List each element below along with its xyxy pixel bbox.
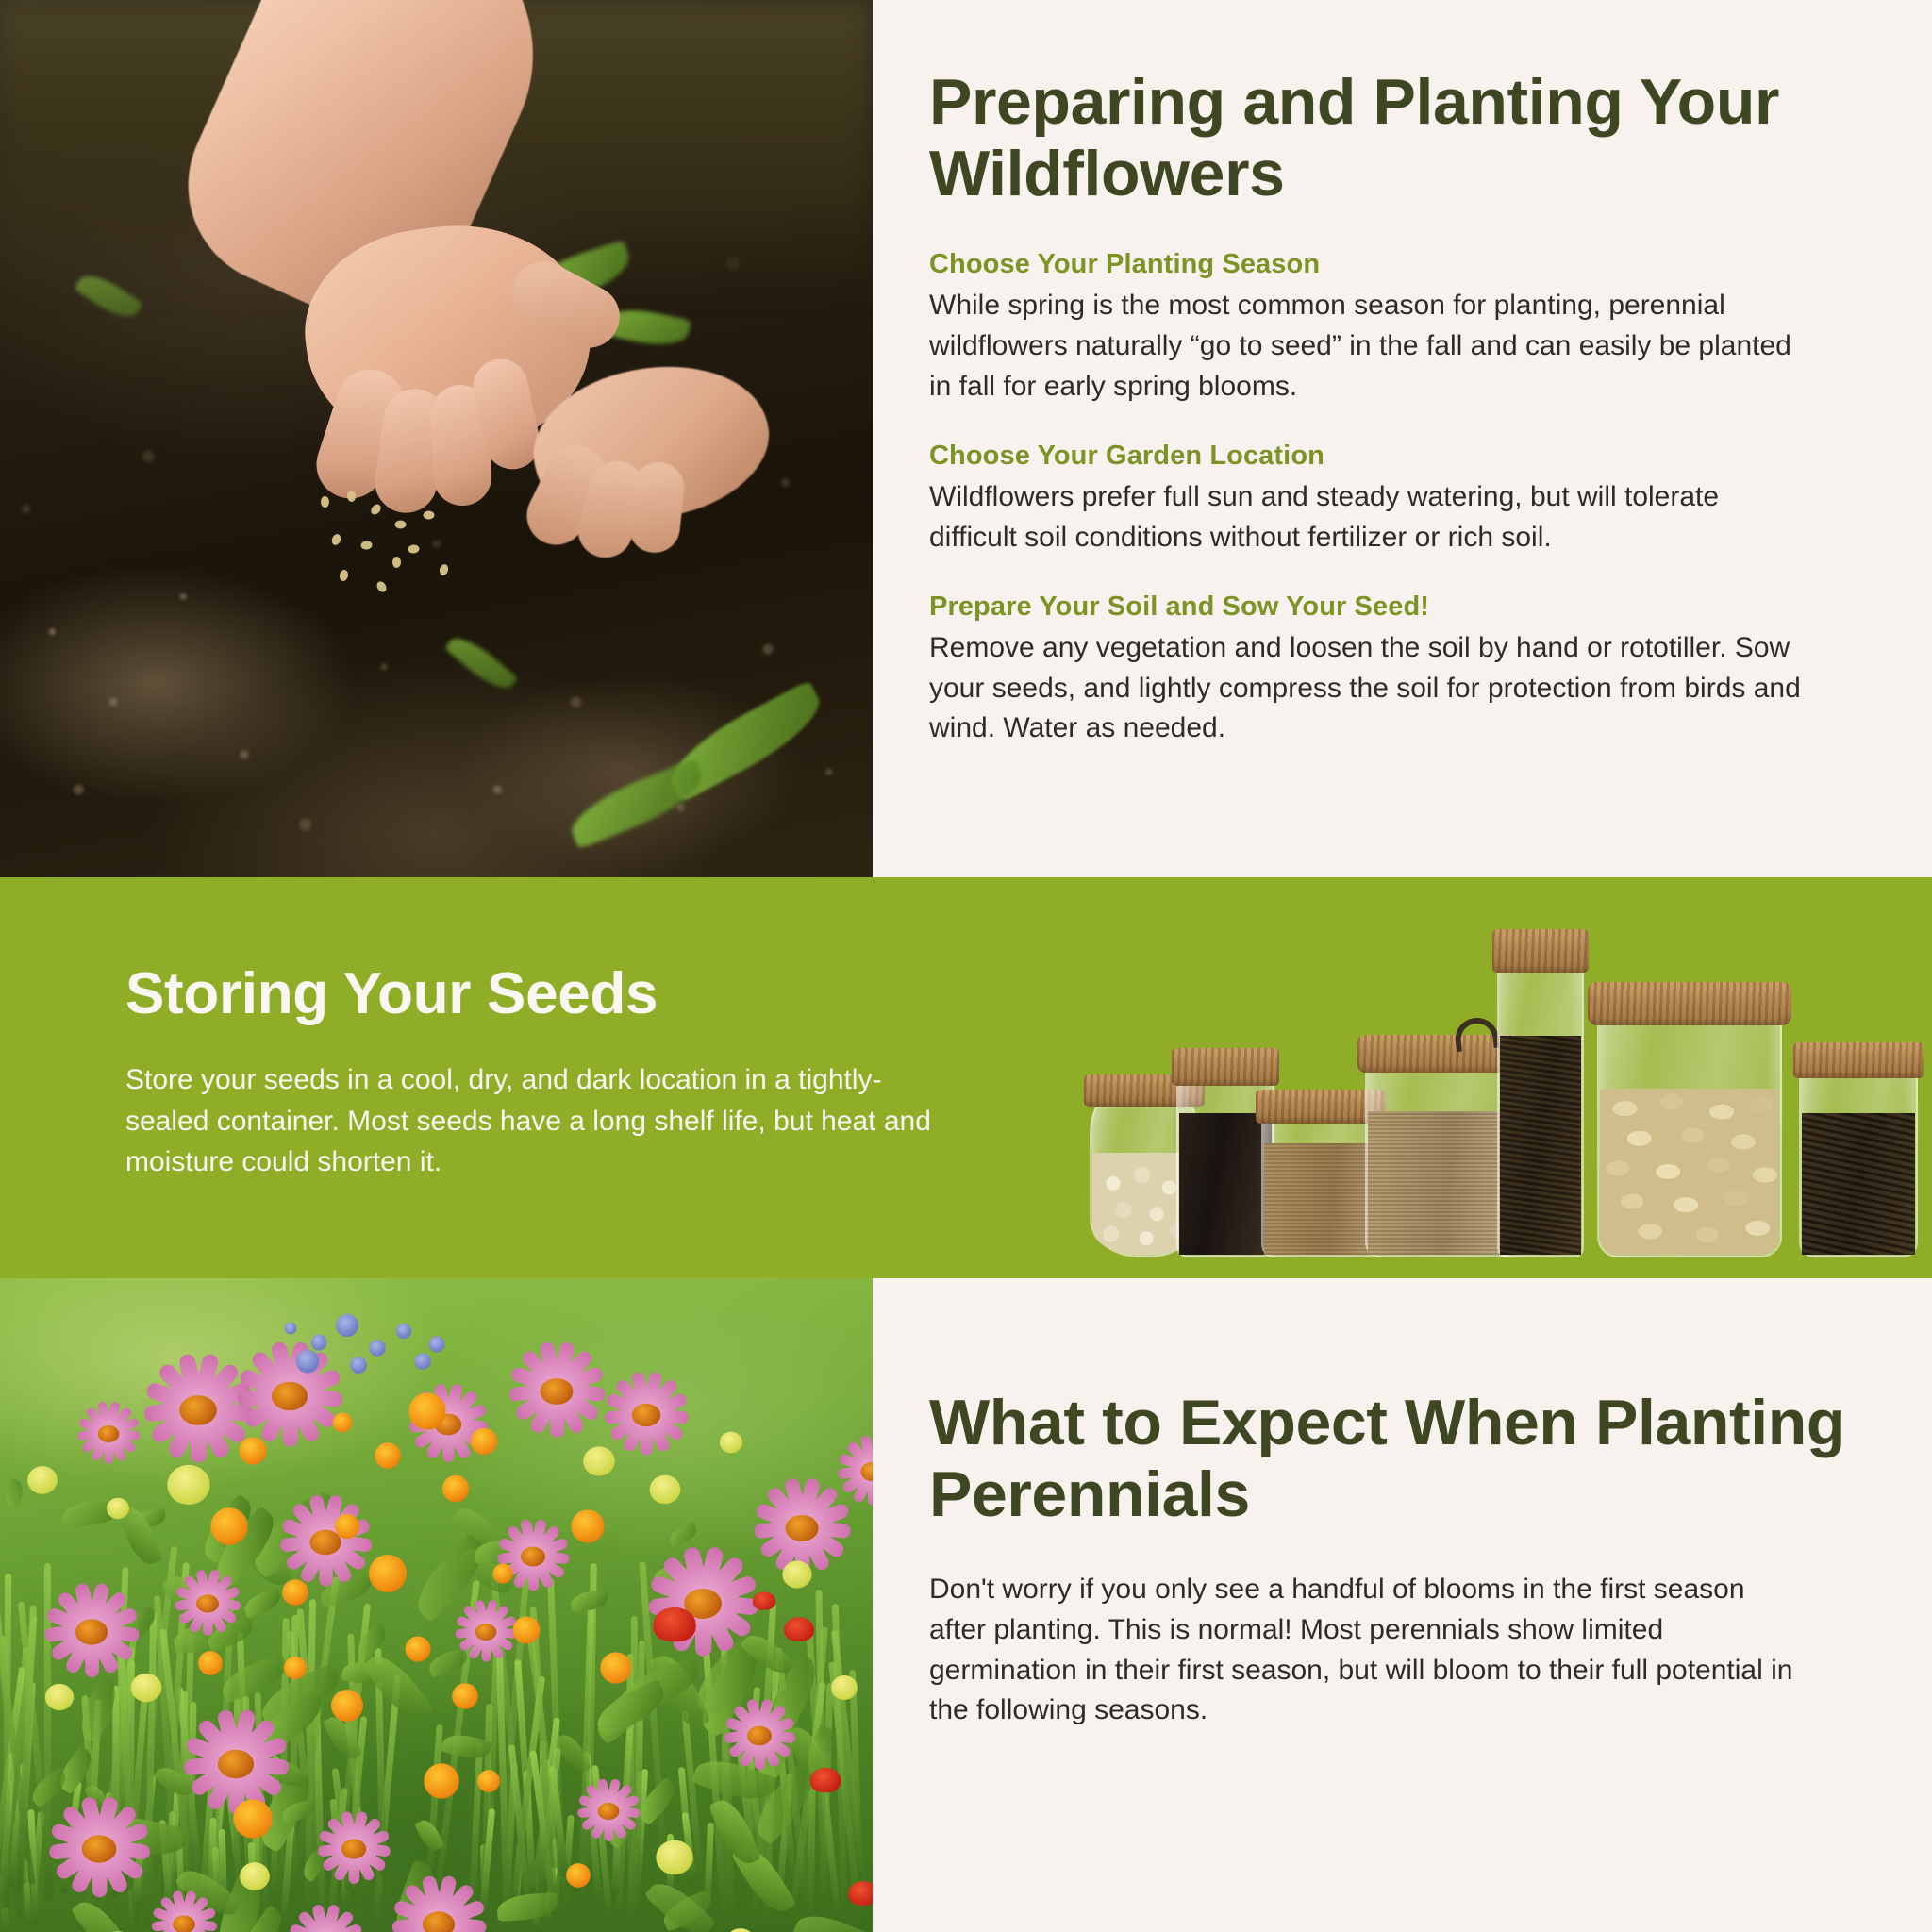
seed (395, 521, 407, 529)
cork-stopper-icon (1172, 1048, 1279, 1086)
yellow-bud-flower (656, 1840, 692, 1875)
section-preparing-planting: Preparing and Planting Your Wildflowers … (0, 0, 1932, 877)
seed (424, 511, 435, 520)
coneflower (837, 1436, 873, 1508)
marigold-flower (284, 1657, 307, 1679)
blue-flower (285, 1323, 297, 1335)
jar-tall-dark-seeds (1497, 937, 1584, 1257)
coneflower (604, 1373, 690, 1458)
cork-stopper-icon (1793, 1042, 1924, 1078)
flower-center (747, 1726, 772, 1746)
marigold-flower (335, 1514, 359, 1539)
glass-jars-of-seeds-photo (1090, 877, 1932, 1278)
jar-contents-black-seeds (1179, 1113, 1272, 1255)
blue-flower (296, 1350, 320, 1374)
marigold-flower (566, 1863, 591, 1888)
flower-center (521, 1547, 545, 1567)
expect-text-column: What to Expect When Planting Perennials … (929, 1278, 1932, 1932)
flower-center (82, 1835, 117, 1862)
red-flower (653, 1607, 695, 1641)
coneflower (723, 1699, 795, 1772)
infographic-page: Preparing and Planting Your Wildflowers … (0, 0, 1932, 1932)
flower-center (196, 1594, 219, 1612)
marigold-flower (492, 1563, 512, 1583)
blue-flower (311, 1335, 327, 1351)
red-flower (848, 1881, 873, 1905)
jar-sunflower-seeds (1799, 1048, 1918, 1257)
marigold-flower (471, 1428, 497, 1455)
yellow-bud-flower (131, 1674, 162, 1703)
seed (392, 557, 401, 568)
coneflower (454, 1600, 518, 1664)
subheading-planting-season: Choose Your Planting Season (929, 249, 1875, 280)
wildflower-meadow-coneflowers-photo (0, 1278, 873, 1932)
yellow-bud-flower (45, 1684, 74, 1710)
expect-title: What to Expect When Planting Perennials (929, 1387, 1875, 1530)
jar-contents-dark-seeds (1500, 1036, 1581, 1255)
flower-center (632, 1404, 660, 1426)
marigold-flower (512, 1616, 540, 1643)
marigold-flower (424, 1763, 458, 1798)
flower-center (541, 1378, 574, 1405)
flower-center (75, 1619, 108, 1644)
blue-flower (396, 1324, 411, 1339)
coneflower (646, 1547, 759, 1660)
body-garden-location: Wildflowers prefer full sun and steady w… (929, 477, 1807, 558)
coneflower (150, 1890, 217, 1932)
marigold-flower (282, 1579, 308, 1606)
jar-fine-brown-seeds (1261, 1095, 1380, 1257)
seed (369, 503, 383, 517)
blue-flower (429, 1337, 445, 1353)
marigold-flower (239, 1437, 266, 1464)
marigold-flower (333, 1413, 353, 1433)
coneflower (47, 1797, 151, 1901)
marigold-flower (408, 1392, 445, 1429)
storing-body: Store your seeds in a cool, dry, and dar… (125, 1059, 956, 1183)
jar-contents-pumpkin-seeds (1600, 1089, 1779, 1255)
seed (339, 569, 349, 582)
coneflower (43, 1584, 141, 1681)
flower-center (98, 1425, 120, 1442)
jar-tan-seeds-with-handle (1365, 1042, 1516, 1257)
grass-blade (630, 1616, 637, 1928)
coneflower (76, 1402, 141, 1466)
red-flower (753, 1591, 775, 1609)
blue-flower (336, 1314, 358, 1337)
jar-contents-fine-seeds (1264, 1143, 1377, 1255)
yellow-bud-flower (240, 1862, 270, 1890)
jar-contents-sunflower-seeds (1802, 1113, 1915, 1255)
marigold-flower (198, 1651, 223, 1675)
marigold-flower (442, 1475, 469, 1502)
coneflower (174, 1570, 241, 1638)
marigold-flower (600, 1652, 631, 1683)
yellow-bud-flower (650, 1475, 681, 1505)
marigold-flower (375, 1442, 401, 1469)
yellow-bud-flower (831, 1675, 858, 1700)
flower-center (272, 1382, 308, 1410)
jar-black-seeds (1176, 1052, 1274, 1257)
marigold-flower (210, 1507, 248, 1545)
cork-stopper-icon (1588, 982, 1791, 1025)
section-storing-seeds: Storing Your Seeds Store your seeds in a… (0, 877, 1932, 1278)
seed (330, 533, 342, 546)
marigold-flower (369, 1555, 407, 1592)
marigold-flower (571, 1509, 604, 1542)
jar-wire-handle (1453, 1016, 1499, 1053)
blue-flower (414, 1353, 430, 1369)
yellow-bud-flower (720, 1432, 742, 1454)
seed (408, 544, 420, 554)
coneflower (576, 1779, 641, 1843)
marigold-flower (477, 1770, 500, 1792)
second-hand (514, 311, 797, 594)
page-title: Preparing and Planting Your Wildflowers (929, 66, 1875, 209)
blue-flower (350, 1357, 367, 1374)
marigold-flower (452, 1683, 478, 1709)
flower-center (475, 1624, 497, 1641)
yellow-bud-flower (583, 1446, 615, 1475)
coneflower (316, 1811, 391, 1886)
yellow-bud-flower (782, 1560, 811, 1588)
section-what-to-expect: What to Expect When Planting Perennials … (0, 1278, 1932, 1932)
seed (360, 541, 373, 550)
yellow-bud-flower (107, 1498, 129, 1519)
coneflower (508, 1342, 606, 1441)
blue-flower (369, 1340, 385, 1356)
flower-center (218, 1750, 254, 1778)
coneflower (391, 1876, 488, 1932)
red-flower (784, 1617, 814, 1641)
jar-contents-tan-seeds (1368, 1111, 1513, 1255)
coneflower (287, 1905, 364, 1932)
marigold-flower (233, 1799, 272, 1838)
seed (347, 491, 357, 503)
flower-center (179, 1395, 217, 1425)
flower-center (598, 1803, 620, 1820)
marigold-flower (331, 1690, 363, 1722)
coneflower (278, 1495, 373, 1590)
coneflower (236, 1342, 343, 1450)
yellow-bud-flower (167, 1465, 209, 1505)
jar-pumpkin-seeds (1597, 991, 1782, 1257)
subheading-garden-location: Choose Your Garden Location (929, 441, 1875, 472)
falling-seeds (311, 491, 519, 604)
storing-text-column: Storing Your Seeds Store your seeds in a… (125, 960, 956, 1183)
subheading-prepare-soil: Prepare Your Soil and Sow Your Seed! (929, 591, 1875, 623)
flower-center (785, 1515, 818, 1541)
body-planting-season: While spring is the most common season f… (929, 286, 1807, 407)
yellow-bud-flower (27, 1466, 58, 1494)
planting-text-column: Preparing and Planting Your Wildflowers … (929, 0, 1932, 877)
marigold-flower (405, 1636, 430, 1661)
flower-center (423, 1911, 455, 1932)
flower-center (173, 1916, 195, 1932)
seed (439, 563, 450, 576)
cork-stopper-icon (1492, 929, 1588, 973)
flower-center (341, 1839, 366, 1858)
body-prepare-soil: Remove any vegetation and loosen the soi… (929, 628, 1807, 749)
seed (321, 496, 329, 508)
hand-sowing-seeds-in-soil-photo (0, 0, 873, 877)
red-flower (810, 1768, 841, 1792)
coneflower (182, 1710, 290, 1818)
seed (375, 580, 389, 594)
expect-body: Don't worry if you only see a handful of… (929, 1570, 1807, 1730)
storing-title: Storing Your Seeds (125, 960, 956, 1027)
